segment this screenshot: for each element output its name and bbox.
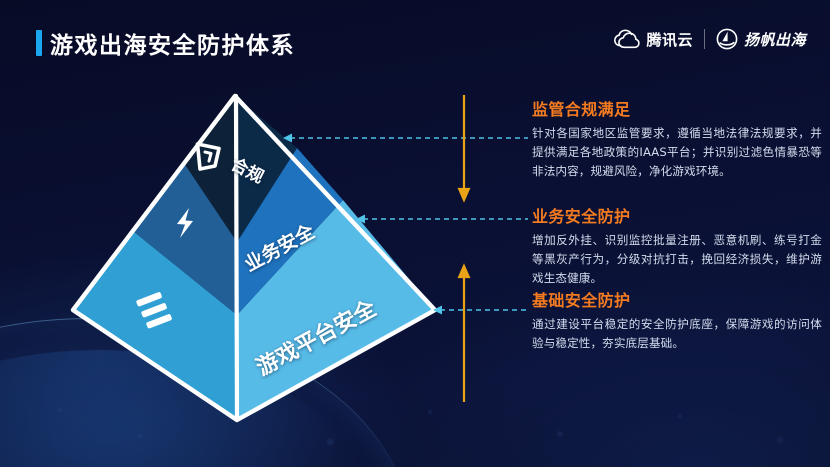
- block-body-platform: 通过建设平台稳定的安全防护底座，保障游戏的访问体验与稳定性，夯实底层基础。: [532, 315, 822, 353]
- description-block-platform: 基础安全防护 通过建设平台稳定的安全防护底座，保障游戏的访问体验与稳定性，夯实底…: [532, 287, 822, 353]
- block-title-compliance: 监管合规满足: [532, 96, 822, 120]
- connector-arrowhead-platform: [433, 306, 442, 315]
- block-title-business: 业务安全防护: [532, 203, 822, 227]
- down-arrow-head: [459, 189, 469, 200]
- block-body-business: 增加反外挂、识别监控批量注册、恶意机刷、练号打金等黑灰产行为，分级对抗打击，挽回…: [532, 231, 822, 287]
- connector-arrowhead-compliance: [283, 134, 292, 143]
- description-blocks: 监管合规满足 针对各国家地区监管要求，遵循当地法律法规要求，并提供满足各地政策的…: [532, 0, 830, 467]
- block-body-compliance: 针对各国家地区监管要求，遵循当地法律法规要求，并提供满足各地政策的IAAS平台；…: [532, 124, 822, 180]
- up-arrow-head: [459, 266, 469, 277]
- description-block-compliance: 监管合规满足 针对各国家地区监管要求，遵循当地法律法规要求，并提供满足各地政策的…: [532, 96, 822, 180]
- description-block-business: 业务安全防护 增加反外挂、识别监控批量注册、恶意机刷、练号打金等黑灰产行为，分级…: [532, 203, 822, 287]
- connector-arrowhead-business: [356, 215, 365, 224]
- slide-canvas: 游戏出海安全防护体系 腾讯云 扬帆出海: [0, 0, 830, 467]
- block-title-platform: 基础安全防护: [532, 287, 822, 311]
